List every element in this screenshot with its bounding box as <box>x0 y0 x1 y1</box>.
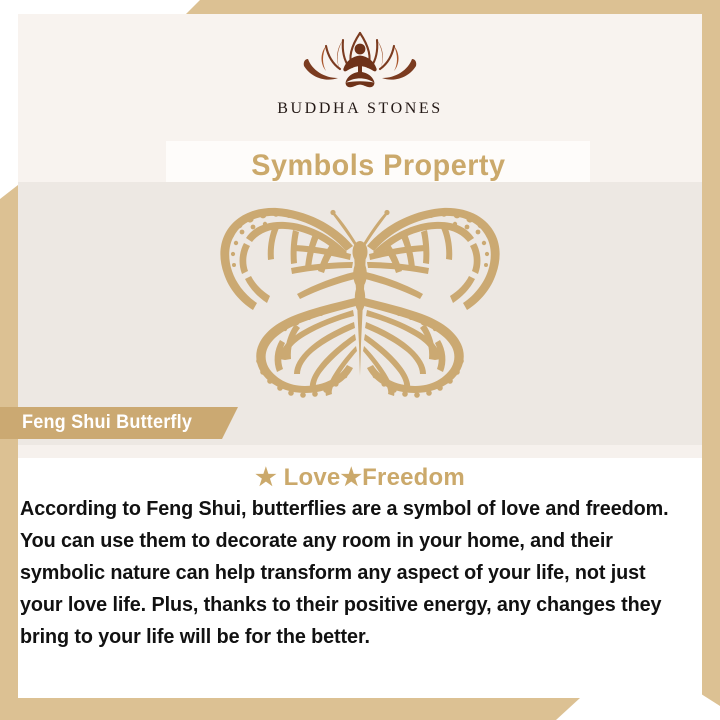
description-card: ★ Love★Freedom According to Feng Shui, b… <box>18 445 702 698</box>
feature-tag-label: Feng Shui Butterfly <box>22 412 192 434</box>
content-subheading: ★ Love★Freedom <box>18 463 702 492</box>
monarch-butterfly-icon <box>195 194 525 409</box>
card-top-divider <box>18 445 702 458</box>
feature-tag-banner: Feng Shui Butterfly <box>0 407 238 439</box>
feature-image-panel <box>18 182 702 445</box>
infographic-page: BUDDHA STONES Symbols Property <box>0 0 720 720</box>
brand-name: BUDDHA STONES <box>277 100 443 118</box>
lotus-meditation-figure-icon <box>286 26 434 98</box>
frame-band-bottom <box>0 698 580 720</box>
page-title: Symbols Property <box>251 149 505 183</box>
brand-logo: BUDDHA STONES <box>18 26 702 118</box>
content-paragraph: According to Feng Shui, butterflies are … <box>20 493 678 653</box>
hero-panel: BUDDHA STONES Symbols Property <box>18 14 702 182</box>
frame-band-top <box>0 0 720 14</box>
frame-band-left <box>0 185 18 720</box>
